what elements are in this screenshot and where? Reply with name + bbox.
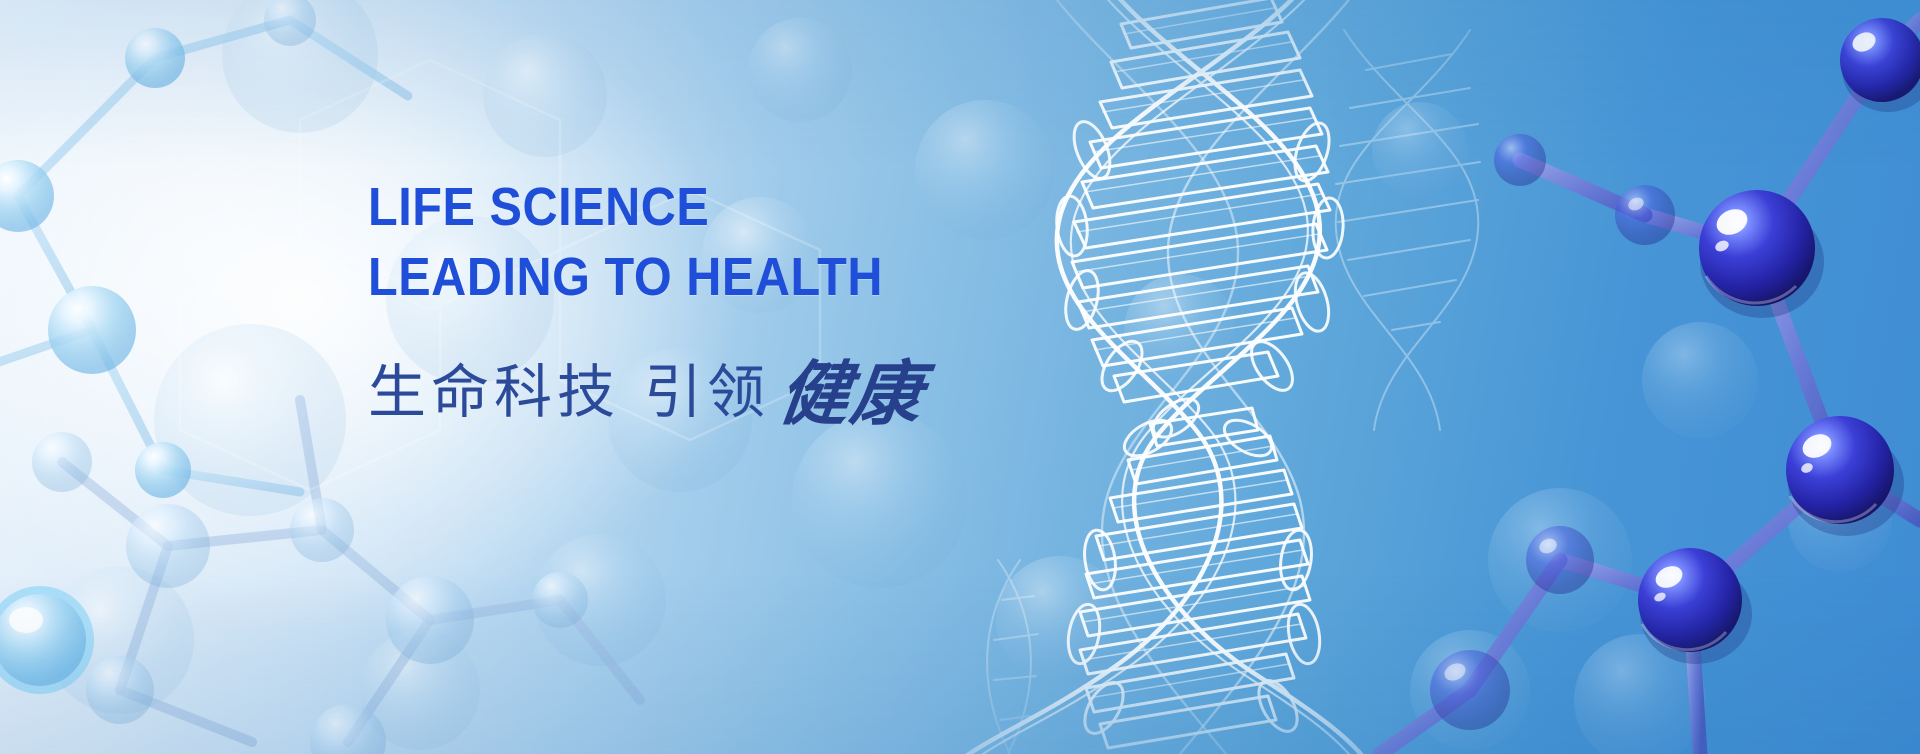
subhead-part-2: 引领 (644, 345, 770, 429)
headline-line-1: LIFE SCIENCE (368, 172, 883, 242)
headline-line-2: LEADING TO HEALTH (368, 242, 883, 312)
background-vignette (0, 0, 1920, 754)
life-science-banner: LIFE SCIENCE LEADING TO HEALTH 生命科技 引领 健… (0, 0, 1920, 754)
subhead-part-3-brush: 健康 (774, 338, 930, 439)
headline-block: LIFE SCIENCE LEADING TO HEALTH 生命科技 引领 健… (368, 172, 940, 433)
subhead-part-1: 生命科技 (368, 345, 620, 429)
subhead-chinese: 生命科技 引领 健康 (368, 332, 940, 433)
